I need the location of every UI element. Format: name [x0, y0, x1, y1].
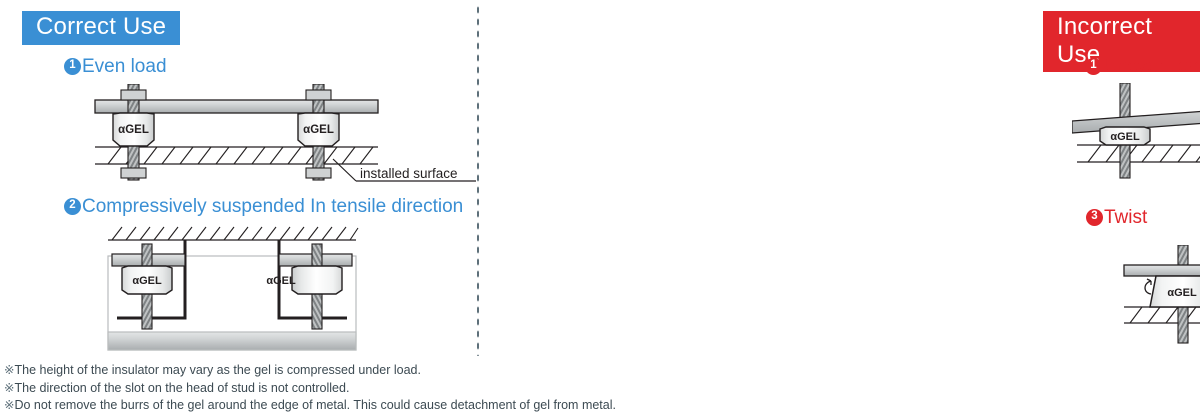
ceiling-hatch — [108, 227, 358, 240]
mounting-plate — [1124, 265, 1200, 276]
note-text: Do not remove the burrs of the gel aroun… — [14, 398, 616, 412]
correct-use-panel: Correct Use 1 Even load — [0, 0, 478, 360]
gel-assembly-left: αGEL — [1100, 127, 1150, 145]
gel-label: αGEL — [118, 124, 149, 136]
nut-top — [121, 90, 146, 100]
note-text: The direction of the slot on the head of… — [14, 381, 349, 395]
badge-number: 3 — [1086, 209, 1103, 226]
isolator-assembly-right: αGEL — [298, 84, 339, 180]
installed-surface-hatch — [1124, 307, 1200, 323]
footnote-item: ※The height of the insulator may vary as… — [4, 362, 1194, 380]
caption-correct-1: 1 Even load — [64, 57, 167, 76]
gel-label: αGEL — [132, 275, 162, 287]
caption-label: Uneven load — [1103, 57, 1200, 76]
suspended-assembly-left: αGEL — [112, 240, 185, 329]
figure-even-load: αGEL αGEL installed surface — [88, 84, 478, 196]
gel-label: αGEL — [266, 275, 296, 287]
gel-label: αGEL — [1110, 131, 1140, 143]
nut-top — [306, 90, 331, 100]
footnote-item: ※Do not remove the burrs of the gel arou… — [4, 397, 1194, 415]
installed-surface-label: installed surface — [360, 166, 458, 181]
caption-incorrect-1: 1 Uneven load — [1085, 57, 1200, 76]
gel-label: αGEL — [303, 124, 334, 136]
equipment-base — [108, 332, 356, 350]
caption-correct-2: 2 Compressively suspended In tensile dir… — [64, 197, 463, 216]
incorrect-use-panel: Incorrect Use 1 Uneven load — [500, 0, 1200, 360]
caption-label: Even load — [82, 57, 167, 76]
panel-divider — [476, 4, 480, 356]
gel-label: αGEL — [1167, 287, 1197, 299]
gel-insulator — [292, 266, 342, 294]
footnotes: ※The height of the insulator may vary as… — [4, 362, 1194, 415]
badge-number: 1 — [64, 58, 81, 75]
note-marker: ※ — [4, 398, 14, 412]
figure-twist: αGEL — [1120, 245, 1200, 345]
figure-suspended: αGEL αGEL — [104, 224, 364, 354]
footnote-item: ※The direction of the slot on the head o… — [4, 380, 1194, 398]
note-marker: ※ — [4, 381, 14, 395]
caption-label: Compressively suspended In tensile direc… — [82, 197, 463, 216]
correct-use-title: Correct Use — [22, 11, 180, 45]
figure-uneven-load: αGEL αGEL — [1072, 83, 1200, 183]
badge-number: 1 — [1085, 58, 1102, 75]
note-marker: ※ — [4, 363, 14, 377]
nut-bottom — [121, 168, 146, 178]
note-text: The height of the insulator may vary as … — [14, 363, 420, 377]
installed-surface-hatch — [1077, 145, 1200, 162]
leader-line — [333, 159, 356, 181]
caption-incorrect-3: 3 Twist — [1086, 208, 1147, 227]
badge-number: 2 — [64, 198, 81, 215]
nut-bottom — [306, 168, 331, 178]
caption-label: Twist — [1104, 208, 1147, 227]
isolator-assembly-left: αGEL — [113, 84, 154, 180]
